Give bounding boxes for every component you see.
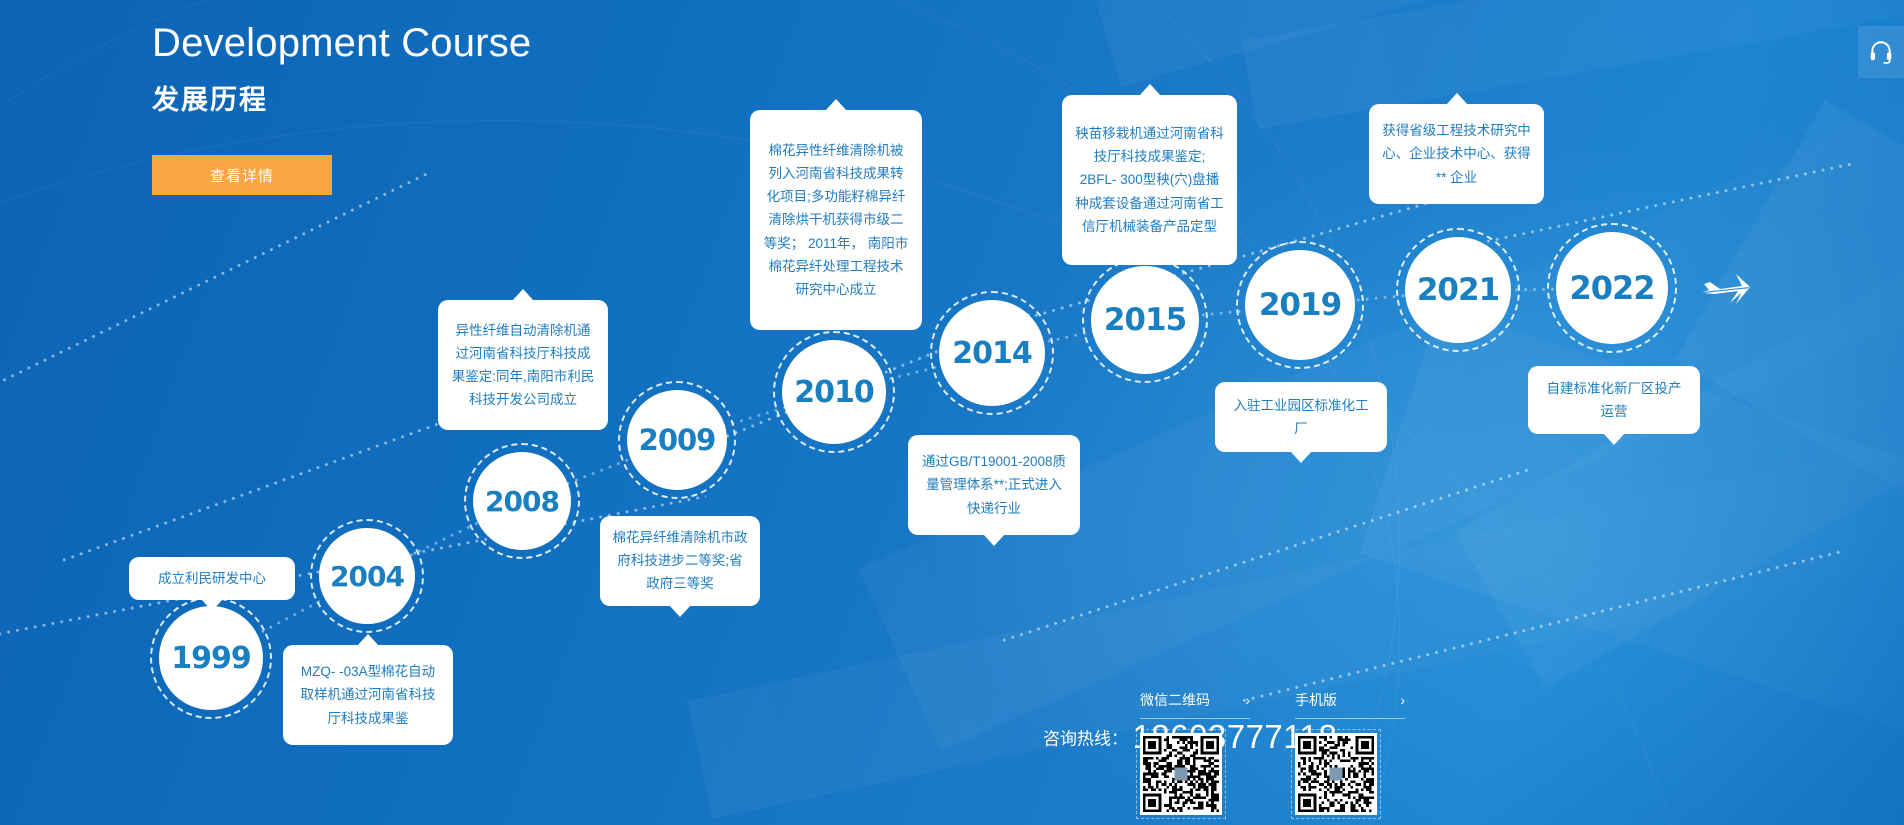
- timeline-node-year: 2008: [485, 485, 559, 518]
- timeline-node-2004[interactable]: 2004: [319, 528, 415, 624]
- timeline-node-2021[interactable]: 2021: [1405, 237, 1511, 343]
- qr-label-row[interactable]: 手机版›: [1295, 690, 1405, 719]
- timeline-card-2004[interactable]: MZQ- -03A型棉花自动取样机通过河南省科技厅科技成果鉴: [283, 645, 453, 745]
- timeline-card-text: 棉花异性纤维清除机被列入河南省科技成果转化项目;多功能籽棉异纤清除烘干机获得市级…: [762, 139, 910, 302]
- timeline-card-2019[interactable]: 入驻工业园区标准化工厂: [1215, 382, 1387, 452]
- timeline-card-2022[interactable]: 自建标准化新厂区投产运营: [1528, 366, 1700, 434]
- timeline-node-year: 2010: [794, 375, 874, 410]
- timeline-card-text: 通过GB/T19001-2008质量管理体系**;正式进入快递行业: [920, 450, 1068, 520]
- chevron-right-icon: ›: [1245, 692, 1250, 708]
- callout-arrow: [1603, 433, 1625, 445]
- qr-label-row[interactable]: 微信二维码›: [1140, 690, 1250, 719]
- timeline-node-year: 2014: [952, 336, 1032, 371]
- timeline-card-2010[interactable]: 棉花异性纤维清除机被列入河南省科技成果转化项目;多功能籽棉异纤清除烘干机获得市级…: [750, 110, 922, 330]
- qr-canvas: [1298, 736, 1374, 812]
- timeline-node-year: 2019: [1259, 287, 1341, 323]
- timeline-node-2008[interactable]: 2008: [473, 452, 571, 550]
- timeline-node-year: 2009: [639, 423, 716, 457]
- timeline-card-text: 入驻工业园区标准化工厂: [1227, 394, 1375, 440]
- timeline-card-text: 自建标准化新厂区投产运营: [1540, 377, 1688, 423]
- qr-label: 微信二维码: [1140, 690, 1210, 710]
- timeline-node-year: 2004: [330, 560, 404, 593]
- timeline-card-text: MZQ- -03A型棉花自动取样机通过河南省科技厅科技成果鉴: [295, 660, 441, 730]
- timeline-node-2014[interactable]: 2014: [939, 300, 1045, 406]
- timeline-node-2019[interactable]: 2019: [1245, 250, 1355, 360]
- callout-arrow: [1446, 93, 1468, 105]
- qr-label: 手机版: [1295, 690, 1337, 710]
- timeline-node-year: 1999: [171, 641, 251, 676]
- timeline-card-text: 秧苗移栽机通过河南省科技厅科技成果鉴定; 2BFL- 300型秧(穴)盘播种成套…: [1074, 122, 1225, 238]
- page-title-en: Development Course: [152, 18, 531, 68]
- timeline-node-2022[interactable]: 2022: [1556, 232, 1668, 344]
- timeline-card-text: 获得省级工程技术研究中心、企业技术中心、获得** 企业: [1381, 119, 1532, 189]
- chevron-right-icon: ›: [1400, 692, 1405, 708]
- view-detail-button[interactable]: 查看详情: [152, 155, 332, 195]
- timeline-node-year: 2021: [1417, 272, 1499, 308]
- page-title-cn: 发展历程: [152, 78, 531, 117]
- callout-arrow: [825, 99, 847, 111]
- callout-arrow: [669, 605, 691, 617]
- timeline-card-2009[interactable]: 棉花异纤维清除机市政府科技进步二等奖;省政府三等奖: [600, 516, 760, 606]
- timeline-card-2008[interactable]: 异性纤维自动清除机通过河南省科技厅科技成果鉴定:同年,南阳市利民科技开发公司成立: [438, 300, 608, 430]
- callout-arrow: [357, 634, 379, 646]
- timeline-node-2009[interactable]: 2009: [627, 390, 727, 490]
- qr-block-1: 手机版›: [1295, 690, 1405, 815]
- headset-icon: [1868, 39, 1894, 65]
- callout-arrow: [512, 289, 534, 301]
- timeline-node-2010[interactable]: 2010: [782, 340, 886, 444]
- timeline-card-1999[interactable]: 成立利民研发中心: [129, 557, 295, 600]
- qr-block-0: 微信二维码›: [1140, 690, 1250, 815]
- timeline-card-2014[interactable]: 通过GB/T19001-2008质量管理体系**;正式进入快递行业: [908, 435, 1080, 535]
- timeline-card-2015[interactable]: 秧苗移栽机通过河南省科技厅科技成果鉴定; 2BFL- 300型秧(穴)盘播种成套…: [1062, 95, 1237, 265]
- callout-arrow: [983, 534, 1005, 546]
- callout-arrow: [1139, 84, 1161, 96]
- timeline-card-text: 异性纤维自动清除机通过河南省科技厅科技成果鉴定:同年,南阳市利民科技开发公司成立: [450, 319, 596, 412]
- timeline-card-text: 棉花异纤维清除机市政府科技进步二等奖;省政府三等奖: [612, 526, 748, 596]
- qr-code-image: [1140, 733, 1222, 815]
- airplane-icon: [1700, 270, 1754, 310]
- timeline-node-2015[interactable]: 2015: [1091, 266, 1199, 374]
- qr-code-image: [1295, 733, 1377, 815]
- timeline-node-1999[interactable]: 1999: [159, 606, 263, 710]
- page-header: Development Course 发展历程 查看详情: [152, 18, 531, 195]
- callout-arrow: [201, 599, 223, 611]
- timeline-card-2021[interactable]: 获得省级工程技术研究中心、企业技术中心、获得** 企业: [1369, 104, 1544, 204]
- customer-service-button[interactable]: [1858, 26, 1904, 78]
- timeline-node-year: 2022: [1569, 269, 1654, 307]
- timeline-card-text: 成立利民研发中心: [158, 567, 266, 590]
- callout-arrow: [1290, 451, 1312, 463]
- timeline-node-year: 2015: [1104, 302, 1186, 338]
- qr-canvas: [1143, 736, 1219, 812]
